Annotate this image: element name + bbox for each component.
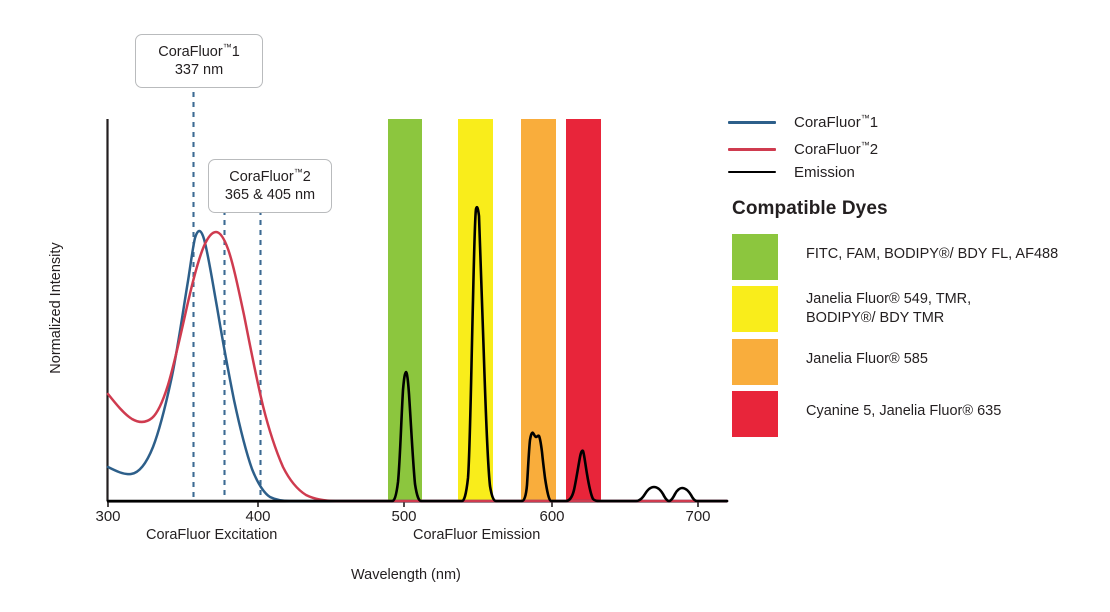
annotation-markers: [194, 92, 261, 501]
band-red: [566, 119, 601, 501]
legend-line-swatch-emission: [728, 171, 776, 174]
trademark-icon: ™: [223, 42, 232, 52]
callout-cf1-index: 1: [232, 44, 240, 60]
figure-root: CoraFluor™1 337 nm CoraFluor™2 365 & 405…: [0, 0, 1110, 612]
dye-item-yellow: Janelia Fluor® 549, TMR, BODIPY®/ BDY TM…: [732, 286, 971, 332]
dye-color-swatch-red: [732, 391, 778, 437]
xtick-label-400: 400: [228, 508, 288, 525]
callout-cf1-line1: CoraFluor™1: [147, 42, 251, 61]
trademark-icon: ™: [861, 113, 870, 123]
chart-panel: CoraFluor™1 337 nm CoraFluor™2 365 & 405…: [0, 0, 740, 612]
dye-label-green: FITC, FAM, BODIPY®/ BDY FL, AF488: [806, 234, 1058, 264]
dye-item-green: FITC, FAM, BODIPY®/ BDY FL, AF488: [732, 234, 1058, 280]
band-green: [388, 119, 422, 501]
trademark-icon: ™: [861, 140, 870, 150]
callout-cf2-line1: CoraFluor™2: [220, 167, 320, 186]
callout-cf1-name: CoraFluor: [158, 44, 222, 60]
callout-corafluor-2: CoraFluor™2 365 & 405 nm: [208, 159, 332, 213]
callout-cf2-name: CoraFluor: [229, 169, 293, 185]
dye-color-swatch-green: [732, 234, 778, 280]
xtick-label-300: 300: [78, 508, 138, 525]
dye-label-red: Cyanine 5, Janelia Fluor® 635: [806, 391, 1001, 421]
emission-bands: [388, 119, 601, 501]
legend-label-corafluor-1: CoraFluor™1: [794, 113, 878, 131]
dye-item-orange: Janelia Fluor® 585: [732, 339, 928, 385]
xtick-label-500: 500: [374, 508, 434, 525]
xtick-label-700: 700: [668, 508, 728, 525]
excitation-range-caption: CoraFluor Excitation: [146, 527, 277, 543]
dye-label-orange: Janelia Fluor® 585: [806, 339, 928, 369]
legend-label-emission: Emission: [794, 164, 855, 181]
legend-panel: CoraFluor™1 CoraFluor™2 Emission Compati…: [728, 0, 1110, 612]
band-orange: [521, 119, 556, 501]
callout-cf1-wavelength: 337 nm: [147, 61, 251, 79]
legend-line-swatch-corafluor-1: [728, 121, 776, 124]
legend-item-corafluor-2: CoraFluor™2: [728, 138, 878, 160]
callout-cf2-index: 2: [303, 169, 311, 185]
legend-label-corafluor-2: CoraFluor™2: [794, 140, 878, 158]
dye-item-red: Cyanine 5, Janelia Fluor® 635: [732, 391, 1001, 437]
xtick-label-600: 600: [522, 508, 582, 525]
dye-color-swatch-yellow: [732, 286, 778, 332]
callout-cf2-wavelength: 365 & 405 nm: [220, 186, 320, 204]
x-axis-title: Wavelength (nm): [351, 567, 461, 583]
compatible-dyes-title: Compatible Dyes: [732, 198, 888, 220]
callout-corafluor-1: CoraFluor™1 337 nm: [135, 34, 263, 88]
y-axis-title: Normalized Intensity: [48, 228, 64, 388]
dye-label-yellow: Janelia Fluor® 549, TMR, BODIPY®/ BDY TM…: [806, 286, 971, 328]
legend-item-emission: Emission: [728, 161, 855, 183]
legend-item-corafluor-1: CoraFluor™1: [728, 111, 878, 133]
legend-line-swatch-corafluor-2: [728, 148, 776, 151]
emission-range-caption: CoraFluor Emission: [413, 527, 540, 543]
dye-color-swatch-orange: [732, 339, 778, 385]
trademark-icon: ™: [294, 167, 303, 177]
